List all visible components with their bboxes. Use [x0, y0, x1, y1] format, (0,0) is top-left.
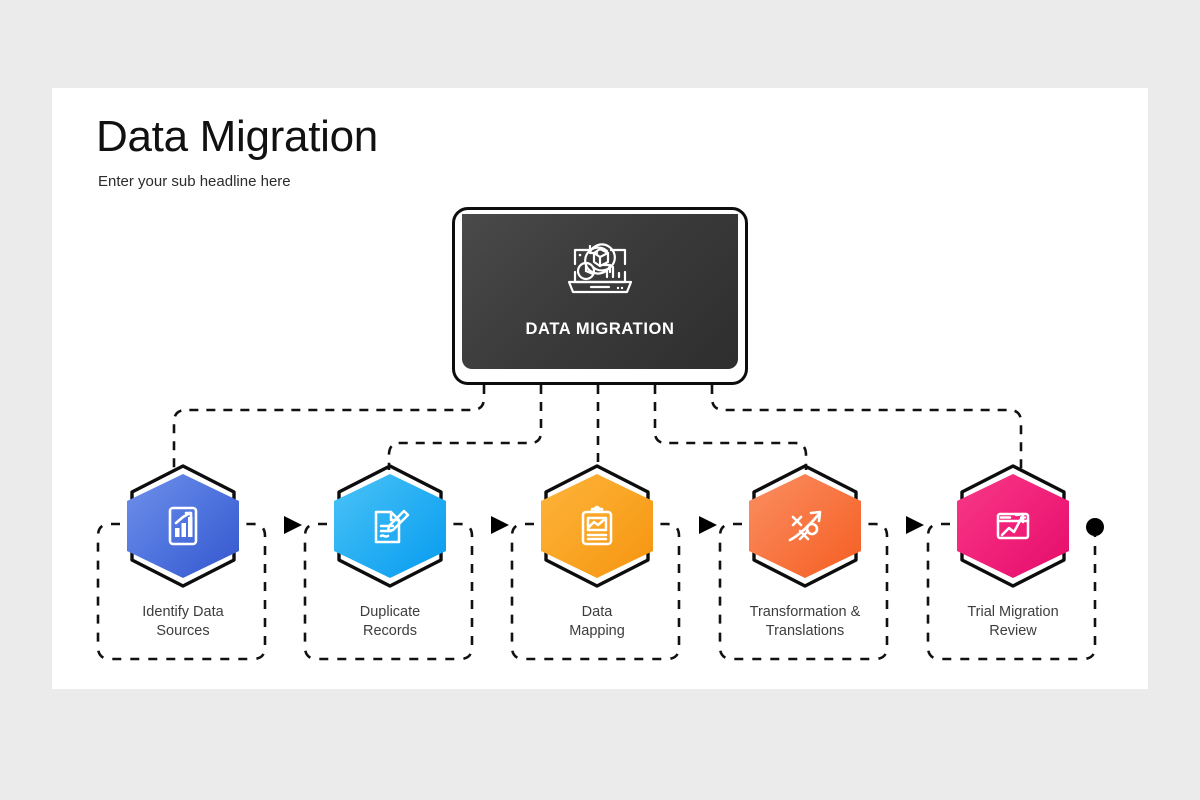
step-2-label-line2: Records: [300, 622, 480, 641]
step-2-label-line1: Duplicate: [300, 603, 480, 622]
growth-window-icon: [990, 503, 1036, 549]
step-1-label-line2: Sources: [93, 622, 273, 641]
step-4-label: Transformation & Translations: [715, 603, 895, 641]
step-5-label: Trial Migration Review: [923, 603, 1103, 641]
strategy-arrow-icon: [782, 503, 828, 549]
step-1-label-line1: Identify Data: [93, 603, 273, 622]
hexagon-2[interactable]: [334, 474, 446, 578]
page-subtitle: Enter your sub headline here: [98, 173, 291, 190]
hub-card[interactable]: DATA MIGRATION: [462, 214, 738, 369]
hub-label: DATA MIGRATION: [526, 320, 675, 339]
step-4-label-line2: Translations: [715, 622, 895, 641]
data-migration-monitor-icon: [563, 236, 637, 302]
clipboard-chart-icon: [574, 503, 620, 549]
step-3-label-line2: Mapping: [507, 622, 687, 641]
document-pen-icon: [367, 503, 413, 549]
step-3-label-line1: Data: [507, 603, 687, 622]
step-5-label-line2: Review: [923, 622, 1103, 641]
hexagon-4[interactable]: [749, 474, 861, 578]
hexagon-5[interactable]: [957, 474, 1069, 578]
infographic-page: Data Migration Enter your sub headline h…: [0, 0, 1200, 800]
step-5-label-line1: Trial Migration: [923, 603, 1103, 622]
hexagon-1[interactable]: [127, 474, 239, 578]
hexagon-3[interactable]: [541, 474, 653, 578]
page-title: Data Migration: [96, 112, 378, 162]
step-2-label: Duplicate Records: [300, 603, 480, 641]
bar-chart-document-icon: [160, 503, 206, 549]
step-4-label-line1: Transformation &: [715, 603, 895, 622]
step-1-label: Identify Data Sources: [93, 603, 273, 641]
step-3-label: Data Mapping: [507, 603, 687, 641]
